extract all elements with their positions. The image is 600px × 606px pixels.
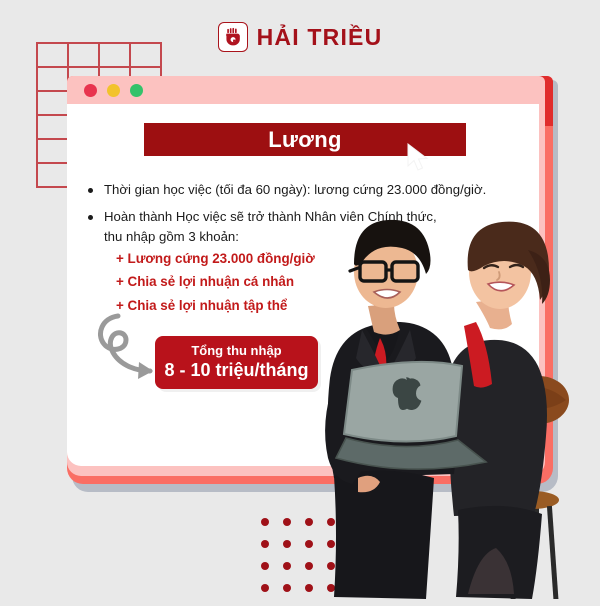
two-people-with-laptop-photo — [300, 210, 600, 599]
close-button[interactable] — [84, 84, 97, 97]
income-component-item: + Chia sẻ lợi nhuận cá nhân — [116, 270, 315, 293]
list-item-text: Thời gian học việc (tối đa 60 ngày): lươ… — [104, 180, 486, 200]
minimize-button[interactable] — [107, 84, 120, 97]
list-item: Thời gian học việc (tối đa 60 ngày): lươ… — [88, 180, 508, 200]
hand-icon — [218, 22, 248, 52]
total-income-badge: Tổng thu nhập 8 - 10 triệu/tháng — [155, 336, 318, 389]
window-titlebar — [67, 76, 545, 104]
bullet-dot-icon — [88, 215, 93, 220]
mouse-pointer-icon — [406, 143, 432, 178]
woman-in-black-blazer — [449, 222, 550, 599]
brand-header: HẢI TRIỀU — [0, 0, 600, 74]
curly-arrow-icon — [92, 312, 164, 399]
total-income-value: 8 - 10 triệu/tháng — [164, 359, 308, 382]
list-item-line: thu nhập gồm 3 khoản: — [104, 229, 239, 244]
total-income-label: Tổng thu nhập — [191, 343, 281, 359]
income-components-list: + Lương cứng 23.000 đồng/giờ + Chia sẻ l… — [116, 247, 315, 317]
page-title: Lương — [268, 127, 341, 153]
income-component-item: + Lương cứng 23.000 đồng/giờ — [116, 247, 315, 270]
maximize-button[interactable] — [130, 84, 143, 97]
brand-name: HẢI TRIỀU — [257, 24, 383, 51]
bullet-dot-icon — [88, 188, 93, 193]
